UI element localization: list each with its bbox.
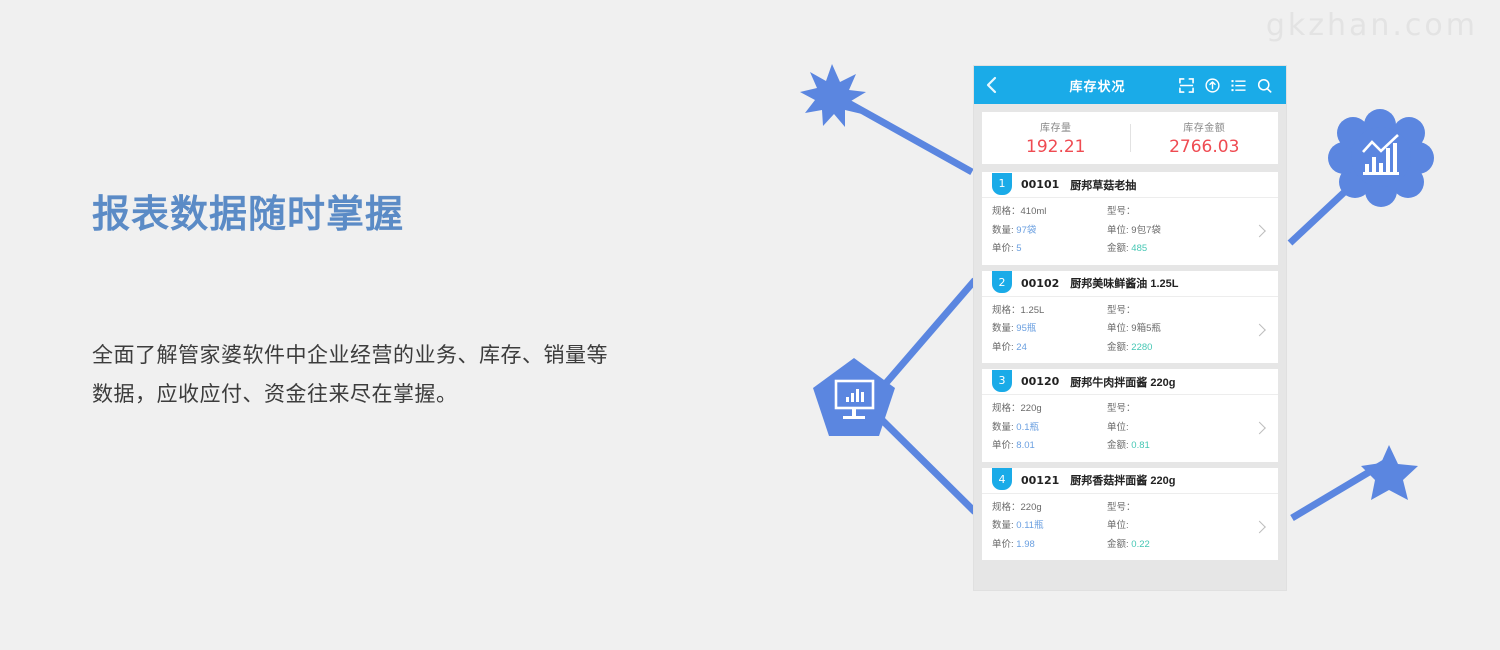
list-icon[interactable] [1231, 78, 1246, 93]
chevron-left-icon [986, 76, 997, 94]
table-row[interactable]: 3 00120 厨邦牛肉拌面酱 220g 规格：220g 数量: 0.1瓶 单价… [982, 369, 1278, 462]
table-row[interactable]: 4 00121 厨邦香菇拌面酱 220g 规格：220g 数量: 0.11瓶 单… [982, 468, 1278, 561]
row-model: 型号： [1107, 302, 1222, 321]
row-detail-column-left: 规格：1.25L 数量: 95瓶 单价: 24 [992, 302, 1107, 358]
row-amount: 金额: 485 [1107, 240, 1222, 259]
promo-slide: gkzhan.com 报表数据随时掌握 全面了解管家婆软件中企业经营的业务、库存… [0, 0, 1500, 650]
chevron-right-icon [1253, 422, 1266, 435]
row-chevron-button[interactable] [1248, 198, 1268, 265]
row-amount: 金额: 2280 [1107, 339, 1222, 358]
summary-label: 库存金额 [1131, 119, 1279, 134]
row-details: 规格：1.25L 数量: 95瓶 单价: 24 型号： 单位: 9箱5瓶 金额:… [982, 297, 1278, 364]
row-price: 单价: 8.01 [992, 437, 1107, 456]
row-index-badge: 3 [992, 370, 1012, 392]
connector-line-mid-lower [880, 418, 975, 512]
row-detail-column-right: 型号： 单位: 9箱5瓶 金额: 2280 [1107, 302, 1222, 358]
row-unit: 单位: [1107, 517, 1222, 536]
row-header: 2 00102 厨邦美味鲜酱油 1.25L [982, 271, 1278, 297]
summary-cell-amount: 库存金额 2766.03 [1131, 119, 1279, 157]
app-title: 库存状况 [1012, 76, 1179, 95]
connector-line-mid-upper [880, 280, 975, 390]
row-detail-column-left: 规格：410ml 数量: 97袋 单价: 5 [992, 203, 1107, 259]
row-unit: 单位: 9包7袋 [1107, 222, 1222, 241]
row-model: 型号： [1107, 499, 1222, 518]
row-index-badge: 1 [992, 173, 1012, 195]
row-product-name: 厨邦牛肉拌面酱 220g [1070, 374, 1175, 390]
row-model: 型号： [1107, 203, 1222, 222]
row-amount: 金额: 0.22 [1107, 536, 1222, 555]
summary-value: 2766.03 [1131, 137, 1279, 157]
row-qty: 数量: 0.11瓶 [992, 517, 1107, 536]
table-row[interactable]: 1 00101 厨邦草菇老抽 规格：410ml 数量: 97袋 单价: 5 型号… [982, 172, 1278, 265]
row-index-badge: 2 [992, 271, 1012, 293]
back-button[interactable] [986, 76, 1012, 94]
row-product-name: 厨邦香菇拌面酱 220g [1070, 472, 1175, 488]
row-price: 单价: 1.98 [992, 536, 1107, 555]
summary-card: 库存量 192.21 库存金额 2766.03 [982, 112, 1278, 164]
row-code: 00102 [1021, 277, 1059, 290]
summary-cell-quantity: 库存量 192.21 [982, 119, 1130, 157]
burst-star-badge [800, 64, 866, 127]
inventory-list: 1 00101 厨邦草菇老抽 规格：410ml 数量: 97袋 单价: 5 型号… [974, 164, 1286, 560]
row-price: 单价: 5 [992, 240, 1107, 259]
table-row[interactable]: 2 00102 厨邦美味鲜酱油 1.25L 规格：1.25L 数量: 95瓶 单… [982, 271, 1278, 364]
row-details: 规格：220g 数量: 0.1瓶 单价: 8.01 型号： 单位: 金额: 0.… [982, 395, 1278, 462]
search-icon[interactable] [1257, 78, 1272, 93]
row-spec: 规格：410ml [992, 203, 1107, 222]
five-point-star-badge [1361, 445, 1418, 500]
chevron-right-icon [1253, 521, 1266, 534]
row-product-name: 厨邦美味鲜酱油 1.25L [1070, 275, 1178, 291]
row-chevron-button[interactable] [1248, 297, 1268, 364]
chevron-right-icon [1253, 323, 1266, 336]
row-chevron-button[interactable] [1248, 395, 1268, 462]
row-price: 单价: 24 [992, 339, 1107, 358]
chart-cloud-badge [1328, 109, 1434, 207]
row-unit: 单位: [1107, 419, 1222, 438]
app-navbar: 库存状况 [974, 66, 1286, 104]
row-qty: 数量: 97袋 [992, 222, 1107, 241]
row-header: 4 00121 厨邦香菇拌面酱 220g [982, 468, 1278, 494]
chart-monitor-pentagon-badge [813, 358, 895, 436]
row-model: 型号： [1107, 400, 1222, 419]
navbar-actions [1179, 78, 1274, 93]
row-chevron-button[interactable] [1248, 494, 1268, 561]
phone-mockup: 库存状况 [974, 66, 1286, 590]
row-spec: 规格：220g [992, 400, 1107, 419]
row-header: 3 00120 厨邦牛肉拌面酱 220g [982, 369, 1278, 395]
row-detail-column-right: 型号： 单位: 金额: 0.22 [1107, 499, 1222, 555]
summary-card-wrap: 库存量 192.21 库存金额 2766.03 [974, 104, 1286, 164]
row-index-badge: 4 [992, 468, 1012, 490]
row-amount: 金额: 0.81 [1107, 437, 1222, 456]
row-detail-column-left: 规格：220g 数量: 0.11瓶 单价: 1.98 [992, 499, 1107, 555]
row-code: 00121 [1021, 474, 1059, 487]
row-product-name: 厨邦草菇老抽 [1070, 177, 1136, 193]
row-qty: 数量: 95瓶 [992, 320, 1107, 339]
row-unit: 单位: 9箱5瓶 [1107, 320, 1222, 339]
arrow-up-circle-icon[interactable] [1205, 78, 1220, 93]
summary-value: 192.21 [982, 137, 1130, 157]
row-detail-column-left: 规格：220g 数量: 0.1瓶 单价: 8.01 [992, 400, 1107, 456]
row-qty: 数量: 0.1瓶 [992, 419, 1107, 438]
row-code: 00101 [1021, 178, 1059, 191]
row-header: 1 00101 厨邦草菇老抽 [982, 172, 1278, 198]
row-code: 00120 [1021, 375, 1059, 388]
row-details: 规格：410ml 数量: 97袋 单价: 5 型号： 单位: 9包7袋 金额: … [982, 198, 1278, 265]
summary-label: 库存量 [982, 119, 1130, 134]
row-details: 规格：220g 数量: 0.11瓶 单价: 1.98 型号： 单位: 金额: 0… [982, 494, 1278, 561]
chevron-right-icon [1253, 225, 1266, 238]
scan-frame-icon[interactable] [1179, 78, 1194, 93]
row-detail-column-right: 型号： 单位: 金额: 0.81 [1107, 400, 1222, 456]
row-spec: 规格：220g [992, 499, 1107, 518]
row-spec: 规格：1.25L [992, 302, 1107, 321]
row-detail-column-right: 型号： 单位: 9包7袋 金额: 485 [1107, 203, 1222, 259]
